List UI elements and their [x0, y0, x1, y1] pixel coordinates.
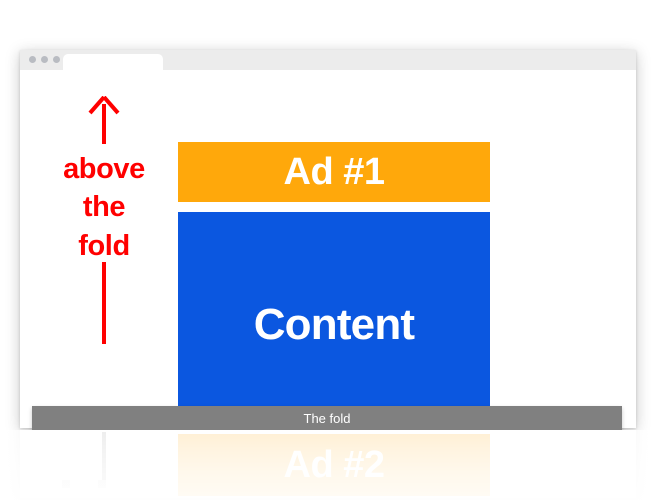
content-label: Content — [254, 300, 415, 350]
browser-chrome-bar — [20, 50, 636, 70]
the-fold-bar: The fold — [32, 406, 622, 430]
window-dot-1-icon[interactable] — [29, 56, 36, 63]
below-the-fold-region: Ad #2 — [0, 430, 660, 500]
browser-tab[interactable] — [63, 54, 163, 70]
fade-overlay — [0, 430, 660, 500]
diagram-stage: above the fold Ad #1 Content The fold Ad… — [0, 0, 660, 500]
window-dot-2-icon[interactable] — [41, 56, 48, 63]
arrow-shaft-lower — [102, 262, 106, 344]
window-dot-3-icon[interactable] — [53, 56, 60, 63]
the-fold-label: The fold — [304, 411, 351, 426]
ad-1-block[interactable]: Ad #1 — [178, 142, 490, 202]
ad-1-label: Ad #1 — [284, 151, 385, 194]
window-controls — [29, 56, 60, 63]
